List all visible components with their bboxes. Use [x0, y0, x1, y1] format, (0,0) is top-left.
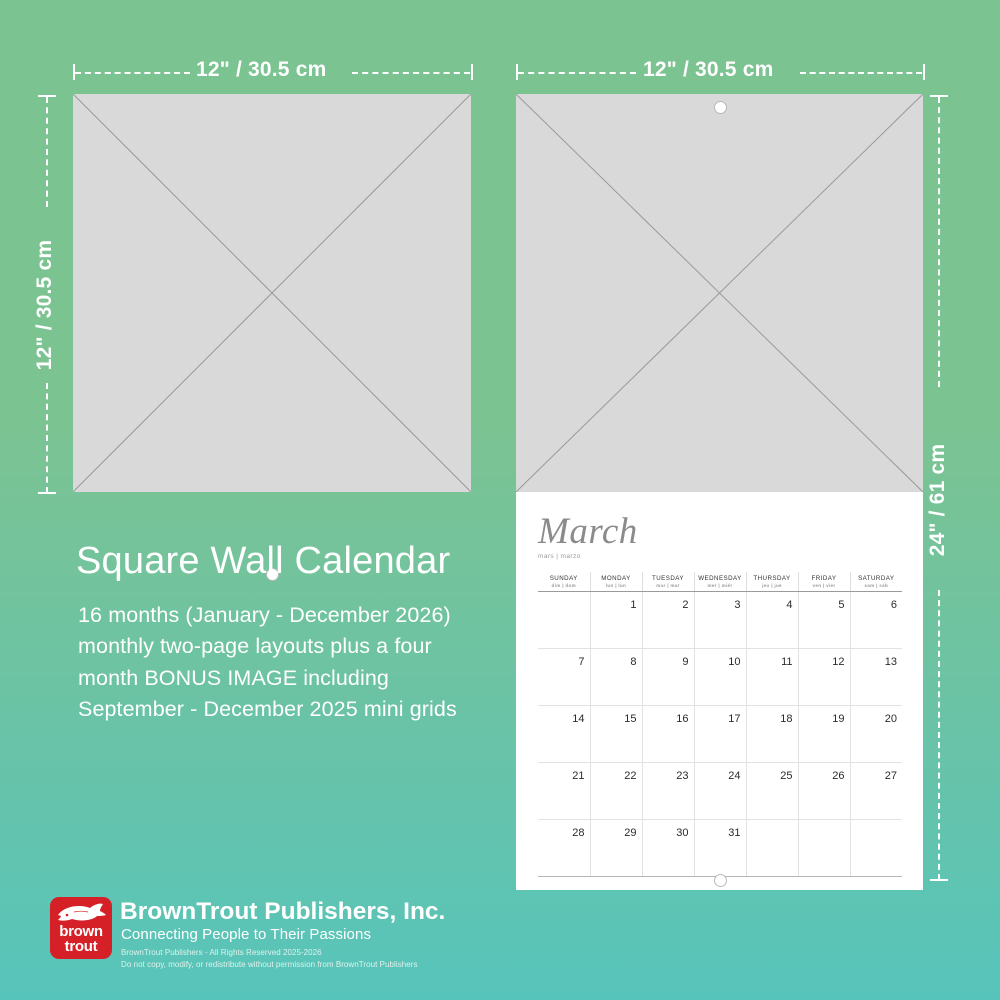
day-cell[interactable]: 18	[746, 705, 798, 762]
left-panel-top-dim-line-b	[352, 72, 470, 74]
day-cell[interactable]: 24	[694, 762, 746, 819]
weekday-localized-tuesday: mar | mar	[643, 583, 694, 589]
day-cell[interactable]: 11	[746, 648, 798, 705]
day-cell[interactable]: 5	[798, 591, 850, 648]
day-number: 18	[780, 713, 792, 725]
day-number: 29	[624, 827, 636, 839]
day-cell[interactable]: 14	[538, 705, 590, 762]
weekday-header-thursday: THURSDAY jeu | jue	[746, 572, 798, 591]
weekday-localized-saturday: sam | sáb	[851, 583, 903, 589]
browntrout-logo[interactable]: brown trout	[50, 897, 112, 959]
month-grid-body: 1 2 3 4 5 6 7 8 9 10 11 12 13	[538, 591, 902, 876]
day-cell[interactable]	[850, 819, 902, 876]
week-row: 28 29 30 31	[538, 819, 902, 876]
month-grid: SUNDAY dim | dom MONDAY lun | lun TUESDA…	[538, 572, 902, 877]
panel-diagonals-left	[73, 94, 471, 492]
day-number: 14	[572, 713, 584, 725]
day-number: 21	[572, 770, 584, 782]
weekday-header-wednesday: WEDNESDAY mer | miér	[694, 572, 746, 591]
day-number: 24	[728, 770, 740, 782]
day-number: 25	[780, 770, 792, 782]
right-panel-top-dim-label: 12" / 30.5 cm	[643, 58, 773, 82]
calendar-image-panel-right	[516, 94, 923, 492]
right-dim-line-b	[938, 590, 940, 880]
logo-word-trout: trout	[50, 939, 112, 954]
week-row: 21 22 23 24 25 26 27	[538, 762, 902, 819]
weekday-name-friday: FRIDAY	[799, 575, 850, 583]
month-title: March	[538, 513, 638, 550]
weekday-localized-monday: lun | lun	[591, 583, 642, 589]
day-cell[interactable]: 2	[642, 591, 694, 648]
day-cell[interactable]: 12	[798, 648, 850, 705]
weekday-localized-thursday: jeu | jue	[747, 583, 798, 589]
day-cell[interactable]: 30	[642, 819, 694, 876]
day-cell[interactable]: 7	[538, 648, 590, 705]
day-cell[interactable]: 10	[694, 648, 746, 705]
day-number: 10	[728, 656, 740, 668]
day-cell[interactable]: 15	[590, 705, 642, 762]
weekday-localized-friday: ven | vier	[799, 583, 850, 589]
day-cell[interactable]: 22	[590, 762, 642, 819]
day-cell[interactable]: 6	[850, 591, 902, 648]
panel-diagonals-right	[516, 94, 923, 492]
weekday-header-tuesday: TUESDAY mar | mar	[642, 572, 694, 591]
day-number: 15	[624, 713, 636, 725]
description-line-1: 16 months (January - December 2026)	[78, 600, 457, 631]
month-grid-wrapper: SUNDAY dim | dom MONDAY lun | lun TUESDA…	[538, 572, 902, 877]
day-cell[interactable]: 8	[590, 648, 642, 705]
right-dim-line-a	[938, 97, 940, 387]
calendar-image-panel-left	[73, 94, 471, 492]
weekday-name-sunday: SUNDAY	[538, 575, 590, 583]
day-cell[interactable]: 17	[694, 705, 746, 762]
weekday-header-sunday: SUNDAY dim | dom	[538, 572, 590, 591]
left-panel-top-dim-line-a	[75, 72, 190, 74]
description-line-2: monthly two-page layouts plus a four	[78, 631, 457, 662]
weekday-localized-wednesday: mer | miér	[695, 583, 746, 589]
day-cell[interactable]: 27	[850, 762, 902, 819]
day-number: 13	[885, 656, 897, 668]
day-number: 4	[786, 599, 792, 611]
calendar-grid-page: March mars | marzo SUNDAY dim | dom MOND…	[516, 492, 923, 890]
logo-word-brown: brown	[50, 924, 112, 939]
hole-punch-right-panel	[714, 101, 727, 114]
right-dim-label: 24" / 61 cm	[926, 425, 950, 575]
day-cell[interactable]: 25	[746, 762, 798, 819]
weekday-name-saturday: SATURDAY	[851, 575, 903, 583]
day-number: 23	[676, 770, 688, 782]
day-cell[interactable]: 3	[694, 591, 746, 648]
day-cell[interactable]	[538, 591, 590, 648]
day-number: 28	[572, 827, 584, 839]
month-title-localized: mars | marzo	[538, 553, 638, 560]
copyright-line-2: Do not copy, modify, or redistribute wit…	[121, 959, 418, 971]
day-cell[interactable]: 13	[850, 648, 902, 705]
logo-wordmark: brown trout	[50, 924, 112, 954]
description-line-3: month BONUS IMAGE including	[78, 663, 457, 694]
weekday-header-friday: FRIDAY ven | vier	[798, 572, 850, 591]
day-number: 22	[624, 770, 636, 782]
right-panel-top-dim-line-b	[800, 72, 922, 74]
week-row: 7 8 9 10 11 12 13	[538, 648, 902, 705]
page-title: Square Wall Calendar	[76, 540, 450, 583]
product-preview-canvas: 12" / 30.5 cm 12" / 30.5 cm 12" / 30.5 c…	[0, 0, 1000, 1000]
day-number: 26	[832, 770, 844, 782]
day-number: 3	[734, 599, 740, 611]
day-number: 17	[728, 713, 740, 725]
weekday-header-monday: MONDAY lun | lun	[590, 572, 642, 591]
day-number: 12	[832, 656, 844, 668]
day-cell[interactable]: 28	[538, 819, 590, 876]
weekday-header-row: SUNDAY dim | dom MONDAY lun | lun TUESDA…	[538, 572, 902, 591]
day-cell[interactable]	[798, 819, 850, 876]
left-dim-label: 12" / 30.5 cm	[33, 220, 57, 390]
left-dim-line-a	[46, 97, 48, 207]
day-number: 9	[682, 656, 688, 668]
day-cell[interactable]	[746, 819, 798, 876]
day-cell[interactable]: 20	[850, 705, 902, 762]
right-panel-top-dim-cap-end	[923, 64, 925, 80]
day-number: 31	[728, 827, 740, 839]
month-title-block: March mars | marzo	[538, 513, 638, 560]
publisher-tagline: Connecting People to Their Passions	[121, 926, 371, 943]
right-panel-top-dim-line-a	[518, 72, 636, 74]
product-description: 16 months (January - December 2026) mont…	[78, 600, 457, 726]
left-dim-cap-bottom	[38, 492, 56, 494]
day-cell[interactable]: 4	[746, 591, 798, 648]
day-number: 11	[781, 656, 792, 668]
day-cell[interactable]: 9	[642, 648, 694, 705]
right-dim-cap-bottom	[930, 879, 948, 881]
day-number: 1	[630, 599, 636, 611]
left-panel-top-dim-label: 12" / 30.5 cm	[196, 58, 326, 82]
publisher-name: BrownTrout Publishers, Inc.	[120, 898, 445, 926]
day-number: 2	[682, 599, 688, 611]
day-cell[interactable]: 31	[694, 819, 746, 876]
day-cell[interactable]: 23	[642, 762, 694, 819]
weekday-localized-sunday: dim | dom	[538, 583, 590, 589]
weekday-name-monday: MONDAY	[591, 575, 642, 583]
day-number: 7	[578, 656, 584, 668]
copyright-notice: BrownTrout Publishers - All Rights Reser…	[121, 947, 418, 970]
day-number: 20	[885, 713, 897, 725]
day-number: 6	[891, 599, 897, 611]
weekday-name-wednesday: WEDNESDAY	[695, 575, 746, 583]
week-row: 14 15 16 17 18 19 20	[538, 705, 902, 762]
weekday-header-saturday: SATURDAY sam | sáb	[850, 572, 902, 591]
day-cell[interactable]: 16	[642, 705, 694, 762]
left-dim-line-b	[46, 383, 48, 493]
day-number: 16	[676, 713, 688, 725]
weekday-name-thursday: THURSDAY	[747, 575, 798, 583]
left-panel-top-dim-cap-end	[471, 64, 473, 80]
copyright-line-1: BrownTrout Publishers - All Rights Reser…	[121, 947, 418, 959]
day-number: 8	[630, 656, 636, 668]
week-row: 1 2 3 4 5 6	[538, 591, 902, 648]
day-cell[interactable]: 19	[798, 705, 850, 762]
day-cell[interactable]: 1	[590, 591, 642, 648]
day-number: 30	[676, 827, 688, 839]
day-number: 27	[885, 770, 897, 782]
day-number: 5	[838, 599, 844, 611]
day-cell[interactable]: 26	[798, 762, 850, 819]
day-cell[interactable]: 21	[538, 762, 590, 819]
day-number: 19	[832, 713, 844, 725]
weekday-name-tuesday: TUESDAY	[643, 575, 694, 583]
day-cell[interactable]: 29	[590, 819, 642, 876]
description-line-4: September - December 2025 mini grids	[78, 694, 457, 725]
hole-punch-calendar-page	[714, 874, 727, 887]
